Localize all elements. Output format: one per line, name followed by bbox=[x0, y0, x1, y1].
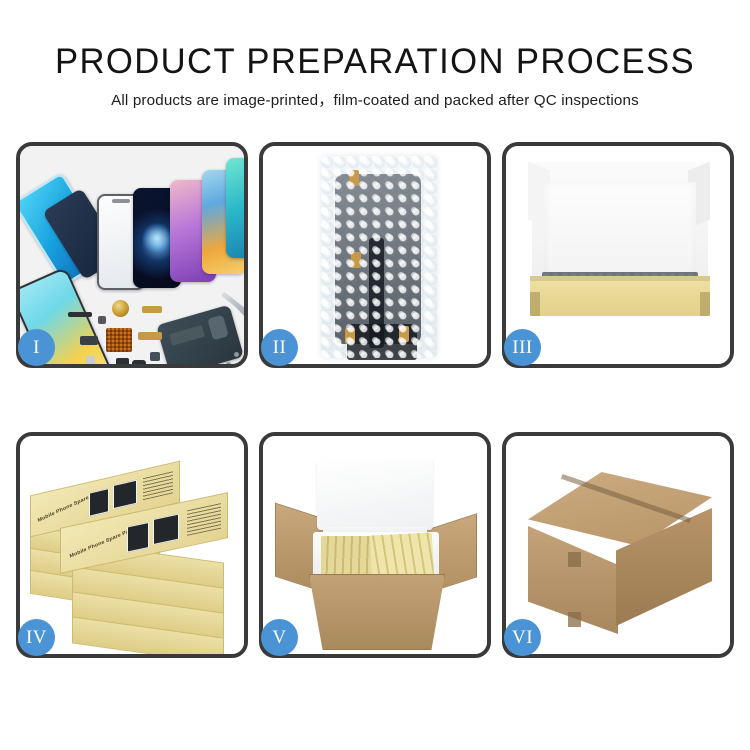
step-1-image bbox=[20, 146, 244, 364]
step-panel-1: I bbox=[16, 142, 248, 368]
small-component-part-2 bbox=[86, 356, 95, 364]
step-3-image bbox=[506, 146, 730, 364]
phone-teal-display bbox=[226, 158, 244, 258]
step-badge-3: III bbox=[504, 329, 541, 366]
step-6-image bbox=[506, 436, 730, 654]
box-print-screen-rear-2 bbox=[113, 480, 137, 510]
step-badge-1: I bbox=[18, 329, 55, 366]
chip-grid-part bbox=[106, 328, 132, 352]
box-print-text-lines-rear bbox=[143, 469, 173, 500]
box-corner-right bbox=[700, 292, 710, 316]
step-panel-2: II bbox=[259, 142, 491, 368]
box-kraft-body bbox=[530, 276, 710, 316]
box-corner-left bbox=[530, 292, 540, 316]
box-print-text-lines-front bbox=[187, 503, 221, 536]
battery-connector-part bbox=[68, 312, 92, 317]
step-panel-4: Mobile Phone Spare Parts Mobile Phone Sp… bbox=[16, 432, 248, 658]
small-component-part-5 bbox=[98, 316, 106, 324]
bubble-wrap-bag bbox=[321, 156, 437, 358]
screw-part-2 bbox=[242, 360, 244, 364]
speaker-coil-part bbox=[112, 300, 129, 317]
small-component-part-4 bbox=[150, 352, 160, 361]
step-panel-3: III bbox=[502, 142, 734, 368]
box-print-screen-rear-1 bbox=[89, 488, 109, 517]
screw-part-3 bbox=[226, 362, 231, 364]
header: PRODUCT PREPARATION PROCESS All products… bbox=[0, 0, 750, 108]
step-panel-6: VI bbox=[502, 432, 734, 658]
step-panel-5: V bbox=[259, 432, 491, 658]
step-2-image bbox=[263, 146, 487, 364]
carton-tape-tab-2 bbox=[568, 612, 581, 627]
page-title: PRODUCT PREPARATION PROCESS bbox=[4, 0, 747, 79]
page-subtitle: All products are image-printed，film-coat… bbox=[0, 79, 750, 108]
step-badge-4: IV bbox=[18, 619, 55, 656]
step-badge-6: VI bbox=[504, 619, 541, 656]
box-lid-face bbox=[544, 182, 696, 278]
carton-body bbox=[309, 574, 445, 650]
phone-housing-back bbox=[156, 305, 244, 364]
carton-tape-tab-1 bbox=[568, 552, 581, 567]
box-print-screen-front-2 bbox=[153, 514, 179, 546]
box-print-screen-front-1 bbox=[127, 522, 149, 553]
step-4-image: Mobile Phone Spare Parts Mobile Phone Sp… bbox=[20, 436, 244, 654]
step-badge-2: II bbox=[261, 329, 298, 366]
flex-cable-part-2 bbox=[80, 336, 98, 345]
process-steps-grid: I II bbox=[16, 142, 734, 658]
step-badge-5: V bbox=[261, 619, 298, 656]
foam-lid bbox=[317, 460, 433, 530]
small-component-part-3 bbox=[132, 360, 146, 364]
small-component-part-1 bbox=[116, 358, 129, 364]
flex-cable-part-3 bbox=[138, 332, 162, 340]
bubble-texture-overlay bbox=[321, 156, 437, 358]
product-preparation-infographic: PRODUCT PREPARATION PROCESS All products… bbox=[0, 0, 750, 750]
screw-part-1 bbox=[234, 352, 239, 357]
step-5-image bbox=[263, 436, 487, 654]
flex-cable-part-1 bbox=[142, 306, 162, 313]
